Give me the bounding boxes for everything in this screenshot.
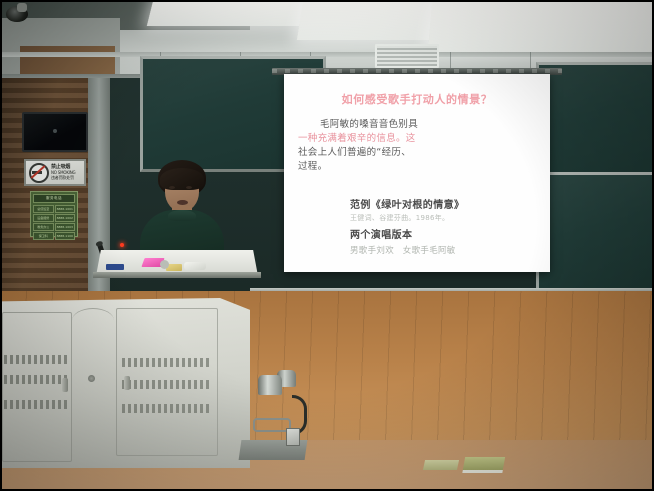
slide-body-line: 毛阿敏的嗓音音色别具 — [298, 118, 478, 132]
phone-board-header-label: 服务电话 — [46, 196, 62, 201]
lecturer-hair-front — [160, 168, 204, 190]
podium-edge — [93, 272, 261, 278]
desk-item-white — [184, 262, 206, 270]
phone-cell: 设备报修 — [33, 214, 54, 222]
phone-label: 总值班室 — [37, 207, 49, 211]
ceiling-beam — [0, 52, 654, 57]
projector-toolbar-strip — [272, 69, 562, 73]
wall-monitor — [22, 112, 88, 152]
phone-label: 教务办公 — [37, 225, 49, 229]
ceiling-light-panel — [428, 0, 654, 52]
cabinet-vent — [4, 400, 68, 409]
phone-cell: 8888-1002 — [55, 214, 76, 222]
phone-label: 保卫科 — [39, 234, 48, 238]
phone-board-grid: 总值班室 8888-1001 设备报修 8888-1002 教务办公 8888-… — [33, 205, 75, 240]
ac-vent-icon — [375, 44, 439, 68]
cabinet-vent — [122, 380, 210, 389]
phone-cell: 保卫科 — [33, 232, 54, 240]
cabinet-handle-left[interactable] — [62, 378, 68, 392]
phone-board-header: 服务电话 — [33, 194, 75, 203]
phone-number: 8888-1002 — [57, 216, 73, 220]
slide-example-block: 范例《绿叶对根的情意》 王健词、谷建芬曲。1986年。 两个演唱版本 男歌手刘欢… — [350, 196, 546, 256]
lecturer-mouth — [177, 200, 188, 205]
phone-number: 8888-1100 — [57, 234, 73, 238]
lecturer-eye — [186, 186, 192, 189]
presentation-slide: 如何感受歌手打动人的情景？ 毛阿敏的嗓音音色别具 一种充满着艰辛的信息。这 社会… — [284, 74, 550, 272]
floor-book-right — [463, 457, 505, 470]
phone-number: 8888-1001 — [57, 207, 73, 211]
lecturer-eye — [169, 186, 175, 189]
phone-cell: 8888-1001 — [55, 205, 76, 213]
desk-item-blue — [106, 264, 124, 270]
no-smoking-text: 禁止吸烟 NO SMOKING 违者罚款处罚 — [51, 165, 75, 180]
phone-cell: 8888-1003 — [55, 223, 76, 231]
chalkboard-right-lower — [536, 172, 654, 296]
cabinet-lock-icon[interactable] — [88, 375, 95, 382]
cabinet-vent — [122, 358, 210, 367]
phone-cell: 总值班室 — [33, 205, 54, 213]
phone-cell: 教务办公 — [33, 223, 54, 231]
slide-body-line: 过程。 — [298, 160, 478, 174]
slide-body-line: 社会上人们普遍的“经历、 — [298, 146, 478, 160]
slide-example-heading: 范例《绿叶对根的情意》 — [350, 196, 546, 211]
status-led-indicator — [120, 243, 124, 247]
projection-screen: 如何感受歌手打动人的情景？ 毛阿敏的嗓音音色别具 一种充满着艰辛的信息。这 社会… — [284, 74, 550, 272]
floor-book-left — [423, 460, 459, 470]
phone-number: 8888-1003 — [57, 225, 73, 229]
cabinet-vent — [4, 375, 68, 384]
cabinet-arc-detail — [72, 308, 114, 333]
lecturer-collar — [168, 210, 196, 221]
cabinet-handle-right[interactable] — [124, 376, 130, 390]
no-smoking-sublabel: 违者罚款处罚 — [51, 175, 75, 180]
thermos-large-cap — [258, 375, 282, 395]
cabinet-vent — [4, 355, 68, 364]
no-smoking-sign: 禁止吸烟 NO SMOKING 违者罚款处罚 — [24, 159, 86, 186]
phone-cell: 8888-1100 — [55, 232, 76, 240]
phone-label: 设备报修 — [37, 216, 49, 220]
tray-label-plate — [286, 428, 300, 446]
slide-body-line-highlight: 一种充满着艰辛的信息。这 — [298, 132, 478, 146]
slide-versions-detail: 男歌手刘欢 女歌手毛阿敏 — [350, 244, 546, 256]
classroom-photo: 禁止吸烟 NO SMOKING 违者罚款处罚 服务电话 总值班室 8888-10… — [0, 0, 654, 491]
desk-item-round — [160, 260, 169, 269]
slide-body: 毛阿敏的嗓音音色别具 一种充满着艰辛的信息。这 社会上人们普遍的“经历、 过程。 — [298, 118, 478, 174]
cabinet-vent — [122, 404, 210, 413]
no-smoking-icon — [29, 163, 49, 183]
chalkboard-right-upper — [536, 62, 654, 176]
slide-versions-heading: 两个演唱版本 — [350, 226, 546, 241]
slide-example-credit: 王健词、谷建芬曲。1986年。 — [350, 213, 546, 223]
service-phone-board: 服务电话 总值班室 8888-1001 设备报修 8888-1002 教务办公 … — [30, 191, 78, 237]
slide-title: 如何感受歌手打动人的情景？ — [284, 91, 550, 107]
security-camera-icon — [6, 6, 28, 22]
